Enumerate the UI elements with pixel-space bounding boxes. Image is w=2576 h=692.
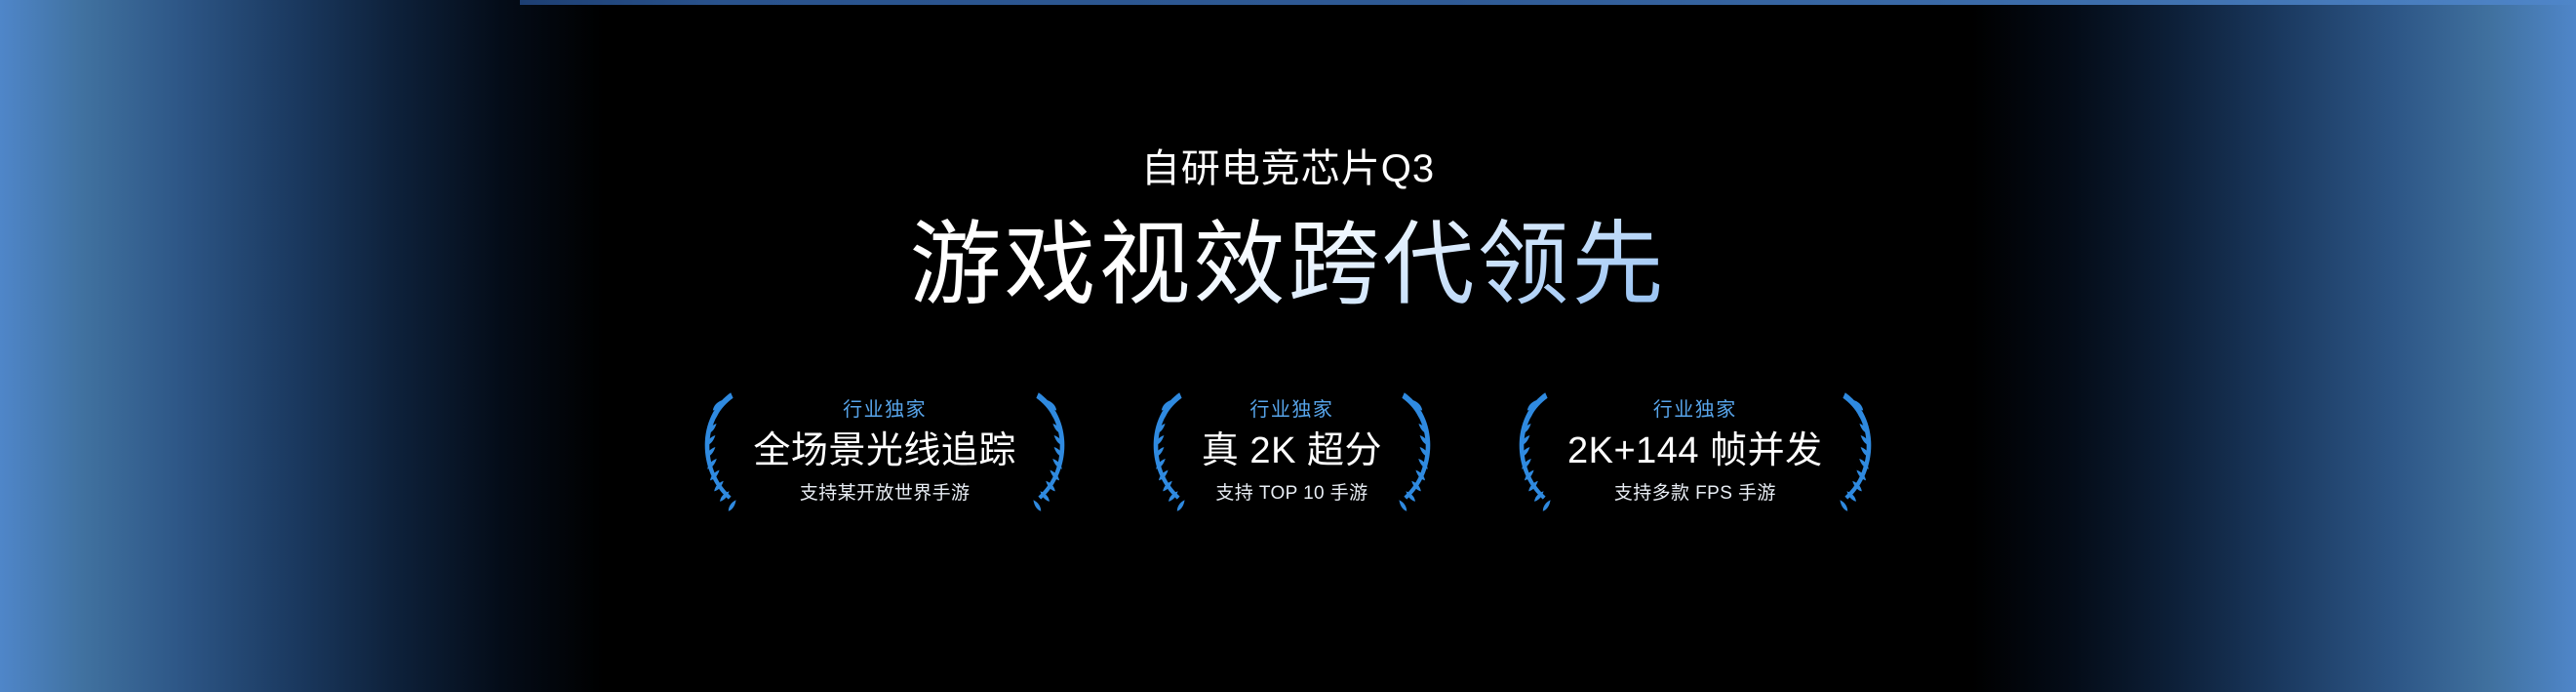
feature-badge: 行业独家 真 2K 超分 支持 TOP 10 手游	[1141, 388, 1443, 515]
laurel-wreath-left-icon	[1147, 388, 1188, 515]
badge-subtitle: 支持 TOP 10 手游	[1215, 482, 1367, 507]
hero-text-block: 自研电竞芯片Q3 游戏视效跨代领先	[0, 0, 2576, 319]
eyebrow-text: 自研电竞芯片Q3	[0, 144, 2576, 193]
badge-body: 行业独家 真 2K 超分 支持 TOP 10 手游	[1188, 397, 1396, 507]
badge-subtitle: 支持多款 FPS 手游	[1614, 482, 1776, 507]
badge-subtitle: 支持某开放世界手游	[800, 482, 971, 507]
laurel-wreath-left-icon	[698, 388, 739, 515]
laurel-wreath-left-icon	[1513, 388, 1554, 515]
laurel-wreath-right-icon	[1396, 388, 1437, 515]
feature-badge: 行业独家 2K+144 帧并发 支持多款 FPS 手游	[1507, 388, 1883, 515]
badge-tag: 行业独家	[843, 397, 927, 423]
feature-badge-row: 行业独家 全场景光线追踪 支持某开放世界手游	[0, 388, 2576, 515]
badge-title: 全场景光线追踪	[753, 428, 1016, 475]
badge-tag: 行业独家	[1249, 397, 1333, 423]
presentation-slide: 自研电竞芯片Q3 游戏视效跨代领先	[0, 0, 2576, 692]
badge-body: 行业独家 2K+144 帧并发 支持多款 FPS 手游	[1554, 397, 1837, 507]
laurel-wreath-right-icon	[1030, 388, 1071, 515]
badge-title: 2K+144 帧并发	[1567, 428, 1823, 475]
laurel-wreath-right-icon	[1837, 388, 1878, 515]
page-title: 游戏视效跨代领先	[909, 211, 1666, 319]
feature-badge: 行业独家 全场景光线追踪 支持某开放世界手游	[693, 388, 1077, 515]
badge-title: 真 2K 超分	[1202, 428, 1382, 475]
badge-tag: 行业独家	[1653, 397, 1737, 423]
badge-body: 行业独家 全场景光线追踪 支持某开放世界手游	[739, 397, 1030, 507]
